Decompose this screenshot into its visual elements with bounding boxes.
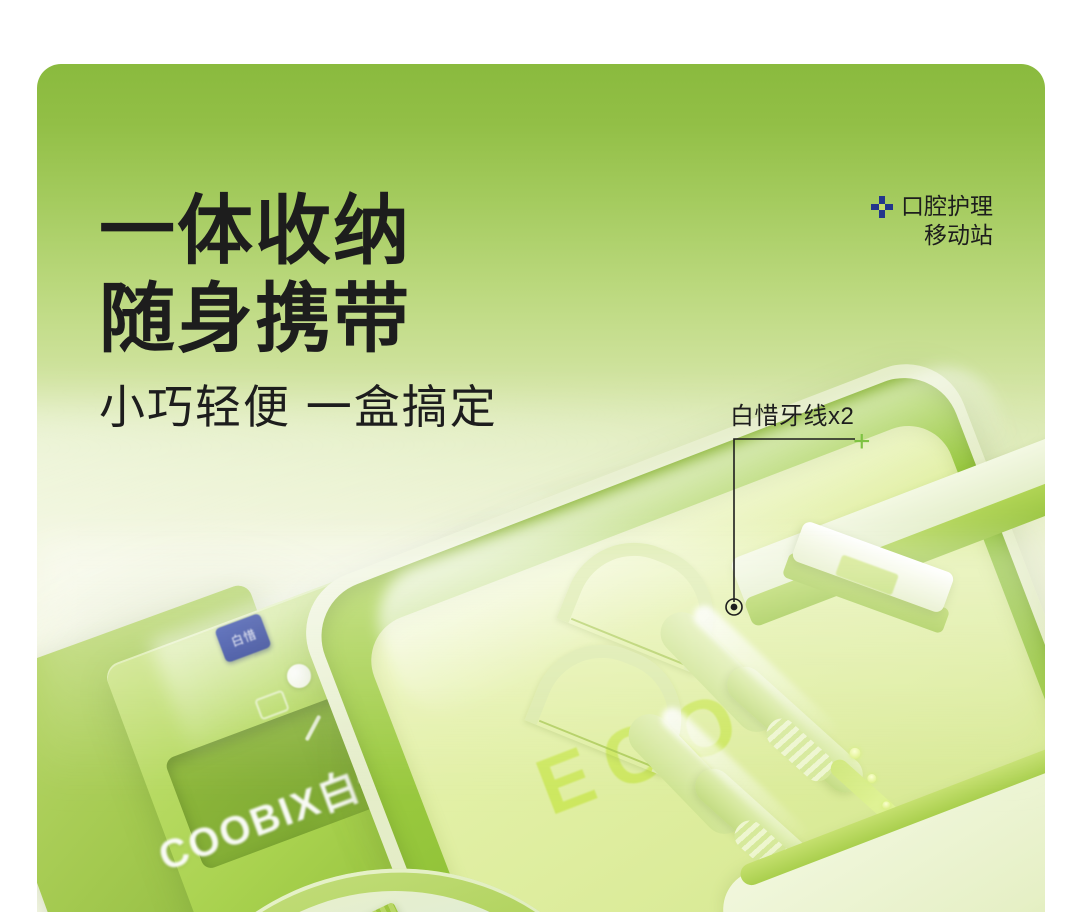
product-banner: 白惜 COOBIX白惜 ECO [0, 0, 1080, 912]
page-subtitle: 小巧轻便 一盒搞定 [99, 378, 498, 436]
light-wash-lower [37, 539, 1045, 793]
oral-care-badge-text: 口腔护理 移动站 [901, 192, 993, 250]
callout-leader-line [717, 424, 887, 634]
oral-care-badge: 口腔护理 移动站 [871, 192, 993, 250]
green-panel: 白惜 COOBIX白惜 ECO [37, 64, 1045, 912]
cross-plus-icon [871, 196, 893, 223]
page-title: 一体收纳 随身携带 [99, 188, 411, 364]
